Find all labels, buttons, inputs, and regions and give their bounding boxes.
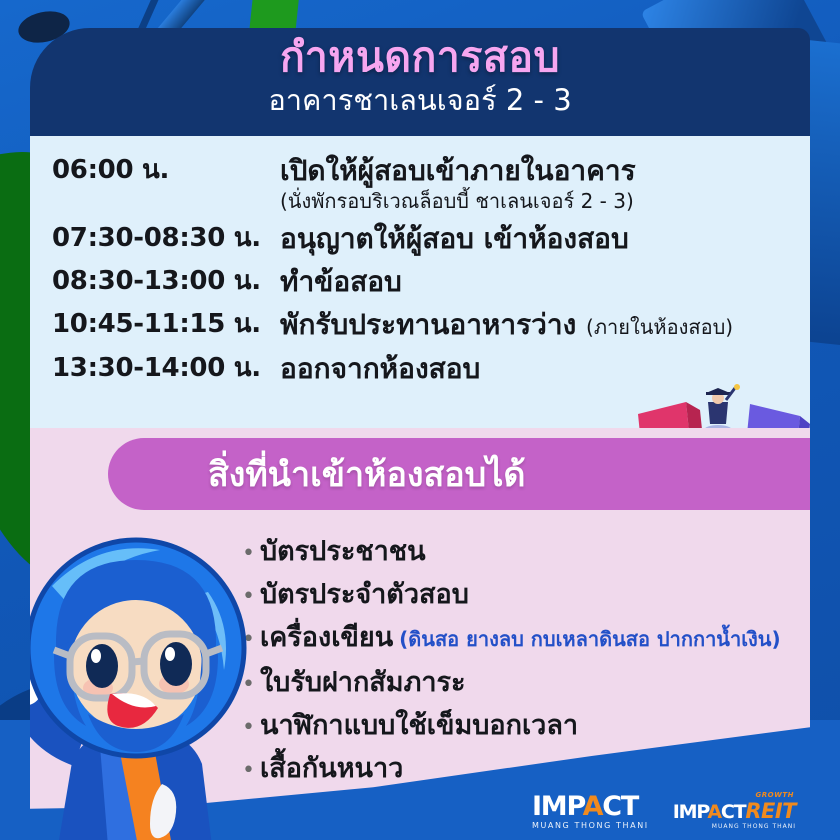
impact-reit-label: REIT (745, 801, 796, 822)
list-item-label: บัตรประชาชน (260, 536, 426, 567)
list-item-label: ใบรับฝากสัมภาระ (260, 667, 466, 698)
impact-logo-accent: A (583, 791, 603, 822)
schedule-description: อนุญาตให้ผู้สอบ เข้าห้องสอบ (280, 222, 800, 256)
schedule-description-text: พักรับประทานอาหารว่าง (280, 308, 576, 341)
schedule-time: 06:00 น. (52, 154, 280, 188)
schedule-list: 06:00 น. เปิดให้ผู้สอบเข้าภายในอาคาร (นั… (30, 136, 810, 395)
main-panel: 06:00 น. เปิดให้ผู้สอบเข้าภายในอาคาร (นั… (30, 136, 810, 840)
list-item-note: (ดินสอ ยางลบ กบเหลาดินสอ ปากกาน้ำเงิน) (399, 623, 780, 655)
impact-logo-part1: IMP (532, 791, 583, 822)
list-item: • ใบรับฝากสัมภาระ (242, 667, 802, 698)
schedule-time: 10:45-11:15 น. (52, 308, 280, 342)
banner-title: สิ่งที่นำเข้าห้องสอบได้ (208, 447, 525, 501)
list-item: • บัตรประจำตัวสอบ (242, 579, 802, 610)
schedule-description: ออกจากห้องสอบ (280, 352, 800, 386)
impact-reit-growth-label: GROWTH (756, 792, 794, 799)
schedule-row: 10:45-11:15 น. พักรับประทานอาหารว่าง (ภา… (52, 308, 800, 342)
impact-reit-tagline: MUANG THONG THANI (673, 824, 796, 830)
list-item: • นาฬิกาแบบใช้เข็มบอกเวลา (242, 710, 802, 741)
header-panel: กำหนดการสอบ อาคารชาเลนเจอร์ 2 - 3 (30, 28, 810, 136)
mascot-character (30, 516, 262, 840)
list-item: • บัตรประชาชน (242, 536, 802, 567)
impact-reit-accent: A (707, 801, 721, 823)
impact-logo-part2: CT (602, 791, 638, 822)
schedule-time: 13:30-14:00 น. (52, 352, 280, 386)
impact-reit-part2: CT (721, 801, 746, 823)
impact-reit-wordmark-row: IMPACT REIT (673, 801, 796, 822)
impact-logo: IMPACT MUANG THONG THANI (532, 793, 649, 830)
schedule-description: พักรับประทานอาหารว่าง (ภายในห้องสอบ) (280, 308, 800, 342)
schedule-row: 08:30-13:00 น. ทำข้อสอบ (52, 265, 800, 299)
impact-logo-tagline: MUANG THONG THANI (532, 822, 649, 830)
page-subtitle: อาคารชาเลนเจอร์ 2 - 3 (30, 83, 810, 118)
page-title: กำหนดการสอบ (30, 34, 810, 81)
impact-logo-wordmark: IMPACT (532, 793, 649, 820)
list-item: • เครื่องเขียน (ดินสอ ยางลบ กบเหลาดินสอ … (242, 622, 802, 655)
schedule-description: ทำข้อสอบ (280, 265, 800, 299)
schedule-row: 07:30-08:30 น. อนุญาตให้ผู้สอบ เข้าห้องส… (52, 222, 800, 256)
schedule-time: 07:30-08:30 น. (52, 222, 280, 256)
schedule-inline-note: (ภายในห้องสอบ) (586, 315, 733, 339)
poster-root: กำหนดการสอบ อาคารชาเลนเจอร์ 2 - 3 06:00 … (0, 0, 840, 840)
schedule-description-text: เปิดให้ผู้สอบเข้าภายในอาคาร (280, 154, 636, 187)
list-item-label: นาฬิกาแบบใช้เข็มบอกเวลา (260, 710, 578, 741)
impact-reit-part1: IMP (673, 801, 708, 823)
schedule-time: 08:30-13:00 น. (52, 265, 280, 299)
list-item-label: บัตรประจำตัวสอบ (260, 579, 469, 610)
list-item-label: เสื้อกันหนาว (260, 753, 403, 784)
allowed-items-banner: สิ่งที่นำเข้าห้องสอบได้ (108, 438, 810, 510)
schedule-note: (นั่งพักรอบริเวณล็อบบี้ ชาเลนเจอร์ 2 - 3… (280, 189, 800, 213)
impact-reit-logo: GROWTH IMPACT REIT MUANG THONG THANI (673, 801, 796, 830)
allowed-items-section: สิ่งที่นำเข้าห้องสอบได้ • บัตรประชาชน • … (30, 428, 810, 840)
list-item-label: เครื่องเขียน (260, 622, 393, 653)
footer-logos: IMPACT MUANG THONG THANI GROWTH IMPACT R… (532, 793, 796, 830)
schedule-description: เปิดให้ผู้สอบเข้าภายในอาคาร (นั่งพักรอบร… (280, 154, 800, 213)
schedule-row: 13:30-14:00 น. ออกจากห้องสอบ (52, 352, 800, 386)
schedule-row: 06:00 น. เปิดให้ผู้สอบเข้าภายในอาคาร (นั… (52, 154, 800, 213)
impact-reit-wordmark: IMPACT (673, 803, 746, 822)
